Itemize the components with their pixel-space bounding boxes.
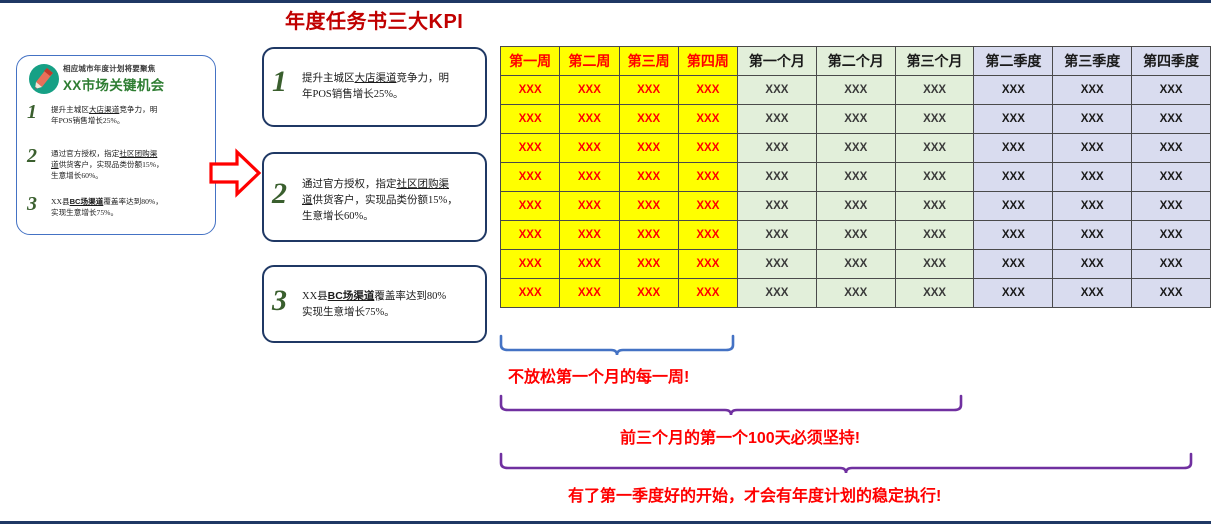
table-cell[interactable]: XXX (816, 105, 895, 134)
table-cell[interactable]: XXX (895, 105, 974, 134)
table-cell[interactable]: XXX (678, 279, 737, 308)
col-header-quarter-4[interactable]: 第四季度 (1132, 47, 1211, 76)
summary-item-2-text: 通过官方授权，指定社区团购渠 道供货客户，实现品类份额15%， 生意增长60%。 (51, 148, 211, 181)
table-cell[interactable]: XXX (560, 279, 619, 308)
pencil-icon (29, 64, 59, 94)
col-header-quarter-2[interactable]: 第二季度 (974, 47, 1053, 76)
table-cell[interactable]: XXX (501, 134, 560, 163)
table-cell[interactable]: XXX (560, 105, 619, 134)
table-row: XXXXXXXXXXXXXXXXXXXXXXXXXXXXXX (501, 134, 1211, 163)
left-panel-heading: XX市场关键机会 (63, 74, 164, 94)
table-cell[interactable]: XXX (501, 76, 560, 105)
kpi-box-2-text: 通过官方授权，指定社区团购渠 道供货客户，实现品类份额15%， 生意增长60%。 (302, 177, 480, 224)
table-row: XXXXXXXXXXXXXXXXXXXXXXXXXXXXXX (501, 163, 1211, 192)
table-row: XXXXXXXXXXXXXXXXXXXXXXXXXXXXXX (501, 192, 1211, 221)
kpi-box-2: 2 通过官方授权，指定社区团购渠 道供货客户，实现品类份额15%， 生意增长60… (262, 152, 487, 242)
summary-item-1-number: 1 (27, 102, 49, 122)
table-cell[interactable]: XXX (895, 250, 974, 279)
table-cell[interactable]: XXX (895, 163, 974, 192)
table-cell[interactable]: XXX (738, 105, 817, 134)
red-right-arrow-icon (209, 148, 261, 203)
table-cell[interactable]: XXX (816, 250, 895, 279)
table-cell[interactable]: XXX (895, 279, 974, 308)
table-cell[interactable]: XXX (619, 105, 678, 134)
table-cell[interactable]: XXX (974, 134, 1053, 163)
kpi-box-2-number: 2 (272, 179, 298, 209)
table-cell[interactable]: XXX (560, 134, 619, 163)
table-cell[interactable]: XXX (1053, 105, 1132, 134)
brace-weeks-caption: 不放松第一个月的每一周! (508, 363, 689, 387)
brace-weeks (498, 334, 742, 365)
col-header-week-4[interactable]: 第四周 (678, 47, 737, 76)
table-cell[interactable]: XXX (895, 76, 974, 105)
col-header-month-1[interactable]: 第一个月 (738, 47, 817, 76)
slide-canvas: 年度任务书三大KPI 相应城市年度计划将要聚焦 XX市场关键机会 1 提升主城区… (0, 0, 1211, 524)
table-cell[interactable]: XXX (560, 76, 619, 105)
table-cell[interactable]: XXX (816, 192, 895, 221)
table-row: XXXXXXXXXXXXXXXXXXXXXXXXXXXXXX (501, 105, 1211, 134)
table-cell[interactable]: XXX (560, 250, 619, 279)
table-cell[interactable]: XXX (619, 250, 678, 279)
table-cell[interactable]: XXX (678, 221, 737, 250)
table-cell[interactable]: XXX (974, 192, 1053, 221)
table-cell[interactable]: XXX (738, 76, 817, 105)
table-cell[interactable]: XXX (816, 279, 895, 308)
table-header-row: 第一周 第二周 第三周 第四周 第一个月 第二个月 第三个月 第二季度 第三季度… (501, 47, 1211, 76)
table-cell[interactable]: XXX (560, 163, 619, 192)
table-cell[interactable]: XXX (1053, 279, 1132, 308)
brace-quarters (498, 452, 1200, 483)
table-cell[interactable]: XXX (895, 221, 974, 250)
col-header-week-3[interactable]: 第三周 (619, 47, 678, 76)
table-cell[interactable]: XXX (678, 192, 737, 221)
table-cell[interactable]: XXX (1132, 134, 1211, 163)
table-cell[interactable]: XXX (678, 76, 737, 105)
table-cell[interactable]: XXX (1132, 105, 1211, 134)
brace-months-caption: 前三个月的第一个100天必须坚持! (620, 424, 860, 448)
left-panel-header: 相应城市年度计划将要聚焦 XX市场关键机会 (29, 62, 209, 98)
table-cell[interactable]: XXX (1132, 221, 1211, 250)
table-cell[interactable]: XXX (974, 163, 1053, 192)
table-cell[interactable]: XXX (501, 279, 560, 308)
table-cell[interactable]: XXX (974, 250, 1053, 279)
table-cell[interactable]: XXX (816, 76, 895, 105)
kpi-box-1-number: 1 (272, 67, 298, 97)
col-header-quarter-3[interactable]: 第三季度 (1053, 47, 1132, 76)
table-cell[interactable]: XXX (678, 134, 737, 163)
table-cell[interactable]: XXX (501, 105, 560, 134)
table-cell[interactable]: XXX (1053, 250, 1132, 279)
table-cell[interactable]: XXX (501, 250, 560, 279)
table-cell[interactable]: XXX (738, 221, 817, 250)
table-cell[interactable]: XXX (738, 134, 817, 163)
table-cell[interactable]: XXX (1132, 250, 1211, 279)
table-cell[interactable]: XXX (1053, 76, 1132, 105)
kpi-box-3: 3 XX县BC场渠道覆盖率达到80% 实现生意增长75%。 (262, 265, 487, 343)
top-rule (0, 0, 1211, 3)
table-cell[interactable]: XXX (816, 221, 895, 250)
table-cell[interactable]: XXX (619, 221, 678, 250)
summary-item-1-text: 提升主城区大店渠道竞争力，明 年POS销售增长25%。 (51, 104, 211, 126)
table-cell[interactable]: XXX (501, 221, 560, 250)
col-header-month-2[interactable]: 第二个月 (816, 47, 895, 76)
table-cell[interactable]: XXX (560, 221, 619, 250)
table-cell[interactable]: XXX (501, 163, 560, 192)
table-row: XXXXXXXXXXXXXXXXXXXXXXXXXXXXXX (501, 221, 1211, 250)
table-cell[interactable]: XXX (678, 163, 737, 192)
kpi-box-3-text: XX县BC场渠道覆盖率达到80% 实现生意增长75%。 (302, 289, 480, 321)
col-header-week-2[interactable]: 第二周 (560, 47, 619, 76)
left-panel-subtitle: 相应城市年度计划将要聚焦 (63, 63, 155, 74)
kpi-timeline-table: 第一周 第二周 第三周 第四周 第一个月 第二个月 第三个月 第二季度 第三季度… (500, 46, 1211, 308)
table-cell[interactable]: XXX (1132, 279, 1211, 308)
table-cell[interactable]: XXX (501, 192, 560, 221)
table-cell[interactable]: XXX (816, 134, 895, 163)
table-cell[interactable]: XXX (1132, 192, 1211, 221)
table-cell[interactable]: XXX (1053, 134, 1132, 163)
table-cell[interactable]: XXX (974, 221, 1053, 250)
table-cell[interactable]: XXX (1053, 192, 1132, 221)
col-header-month-3[interactable]: 第三个月 (895, 47, 974, 76)
table-cell[interactable]: XXX (678, 105, 737, 134)
table-cell[interactable]: XXX (678, 250, 737, 279)
left-summary-panel: 相应城市年度计划将要聚焦 XX市场关键机会 1 提升主城区大店渠道竞争力，明 年… (16, 55, 216, 235)
table-cell[interactable]: XXX (895, 134, 974, 163)
table-cell[interactable]: XXX (1132, 76, 1211, 105)
table-cell[interactable]: XXX (619, 279, 678, 308)
brace-months (498, 394, 970, 425)
table-cell[interactable]: XXX (1053, 163, 1132, 192)
table-cell[interactable]: XXX (738, 192, 817, 221)
table-row: XXXXXXXXXXXXXXXXXXXXXXXXXXXXXX (501, 250, 1211, 279)
kpi-box-1-text: 提升主城区大店渠道竞争力，明 年POS销售增长25%。 (302, 71, 480, 103)
table-cell[interactable]: XXX (619, 134, 678, 163)
brace-quarters-caption: 有了第一季度好的开始，才会有年度计划的稳定执行! (568, 482, 941, 506)
kpi-box-1: 1 提升主城区大店渠道竞争力，明 年POS销售增长25%。 (262, 47, 487, 127)
table-cell[interactable]: XXX (974, 279, 1053, 308)
table-cell[interactable]: XXX (1053, 221, 1132, 250)
page-title: 年度任务书三大KPI (285, 5, 463, 34)
table-cell[interactable]: XXX (738, 250, 817, 279)
table-cell[interactable]: XXX (619, 76, 678, 105)
table-row: XXXXXXXXXXXXXXXXXXXXXXXXXXXXXX (501, 76, 1211, 105)
table-cell[interactable]: XXX (895, 192, 974, 221)
table-row: XXXXXXXXXXXXXXXXXXXXXXXXXXXXXX (501, 279, 1211, 308)
table-cell[interactable]: XXX (974, 105, 1053, 134)
kpi-box-3-number: 3 (272, 286, 298, 316)
table-cell[interactable]: XXX (619, 163, 678, 192)
summary-item-3-text: XX县BC场渠道覆盖率达到80%， 实现生意增长75%。 (51, 196, 211, 218)
table-cell[interactable]: XXX (974, 76, 1053, 105)
table-cell[interactable]: XXX (738, 279, 817, 308)
summary-item-2-number: 2 (27, 146, 49, 166)
table-cell[interactable]: XXX (1132, 163, 1211, 192)
col-header-week-1[interactable]: 第一周 (501, 47, 560, 76)
table-cell[interactable]: XXX (816, 163, 895, 192)
table-cell[interactable]: XXX (738, 163, 817, 192)
table-cell[interactable]: XXX (560, 192, 619, 221)
table-cell[interactable]: XXX (619, 192, 678, 221)
summary-item-3-number: 3 (27, 194, 49, 214)
